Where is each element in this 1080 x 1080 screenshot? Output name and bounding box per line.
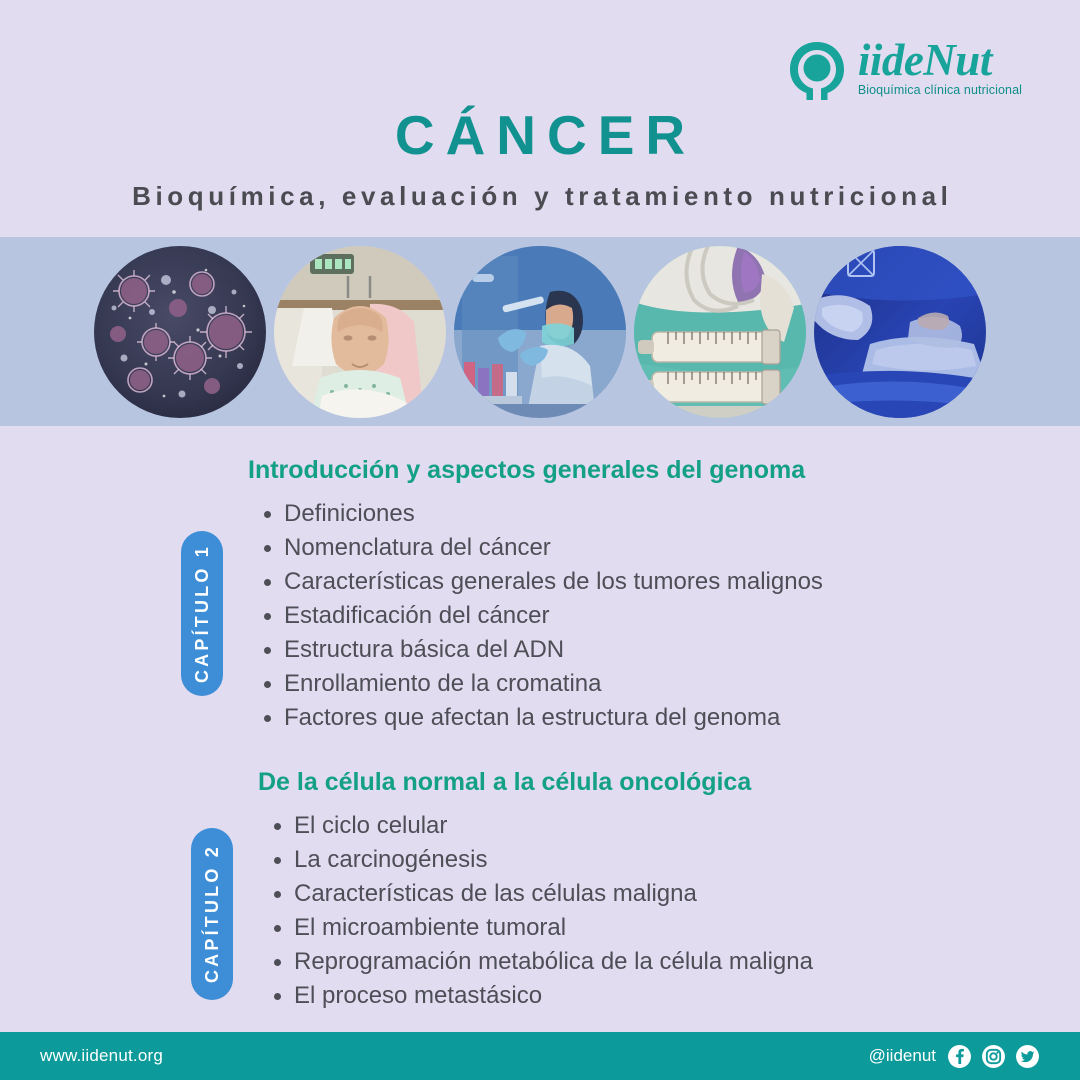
list-item: Factores que afectan la estructura del g… (262, 701, 1080, 735)
social-handle: @iidenut (869, 1046, 936, 1066)
chapter-2-topic-list: El ciclo celular La carcinogénesis Carac… (0, 809, 1080, 1013)
chapter-2-heading: De la célula normal a la célula oncológi… (0, 767, 1080, 797)
list-item: Estadificación del cáncer (262, 599, 1080, 633)
footer-bar: www.iidenut.org @iidenut (0, 1032, 1080, 1080)
photo-row (0, 246, 1080, 418)
medical-syringes-photo (634, 246, 806, 418)
twitter-icon[interactable] (1015, 1044, 1040, 1069)
chapter-2-badge-label: CAPÍTULO 2 (202, 844, 223, 983)
list-item: Estructura básica del ADN (262, 633, 1080, 667)
chapter-1-badge: CAPÍTULO 1 (181, 531, 223, 696)
list-item: Reprogramación metabólica de la célula m… (272, 945, 1080, 979)
list-item: El microambiente tumoral (272, 911, 1080, 945)
chapter-1-topic-list: Definiciones Nomenclatura del cáncer Car… (0, 497, 1080, 736)
chapter-1-badge-label: CAPÍTULO 1 (192, 544, 213, 683)
list-item: Nomenclatura del cáncer (262, 531, 1080, 565)
page-subtitle: Bioquímica, evaluación y tratamiento nut… (0, 182, 1080, 211)
brand-logo[interactable]: iideNut Bioquímica clínica nutricional (786, 36, 1022, 104)
logo-tagline: Bioquímica clínica nutricional (858, 83, 1022, 97)
logo-wordmark: iideNut (858, 38, 992, 82)
patient-hospital-bed-photo (274, 246, 446, 418)
list-item: El proceso metastásico (272, 979, 1080, 1013)
list-item: Características de las células maligna (272, 877, 1080, 911)
chapter-section-1: Introducción y aspectos generales del ge… (0, 455, 1080, 736)
list-item: Enrollamiento de la cromatina (262, 667, 1080, 701)
poster-root: iideNut Bioquímica clínica nutricional C… (0, 0, 1080, 1080)
list-item: La carcinogénesis (272, 843, 1080, 877)
radiotherapy-scanner-photo (814, 246, 986, 418)
website-link[interactable]: www.iidenut.org (40, 1046, 163, 1066)
list-item: El ciclo celular (272, 809, 1080, 843)
chapter-2-badge: CAPÍTULO 2 (191, 828, 233, 1000)
instagram-icon[interactable] (981, 1044, 1006, 1069)
list-item: Características generales de los tumores… (262, 565, 1080, 599)
page-title: CÁNCER (0, 108, 1080, 163)
photo-band (0, 237, 1080, 426)
social-group: @iidenut (869, 1044, 1040, 1069)
facebook-icon[interactable] (947, 1044, 972, 1069)
cancer-cells-photo (94, 246, 266, 418)
chapter-section-2: De la célula normal a la célula oncológi… (0, 767, 1080, 1013)
chapter-1-heading: Introducción y aspectos generales del ge… (0, 455, 1080, 485)
list-item: Definiciones (262, 497, 1080, 531)
lab-technician-photo (454, 246, 626, 418)
logo-text: iideNut Bioquímica clínica nutricional (858, 36, 1022, 97)
iidenut-logo-mark (786, 38, 848, 104)
